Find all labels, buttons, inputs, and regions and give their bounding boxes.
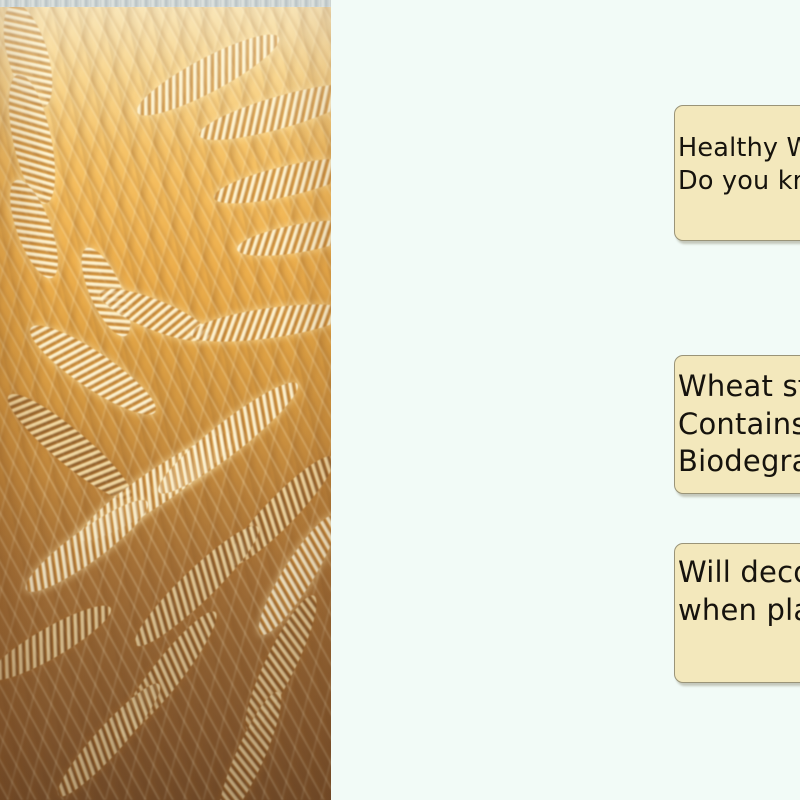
- material-card: Wheat straw material Contains no heavy m…: [674, 355, 800, 494]
- decompose-card-text: Will decompose on its own when placed in…: [678, 554, 800, 629]
- headline-card: Healthy Wheat Straw Ingredients Do you k…: [674, 105, 800, 241]
- wheat-field-photo: [0, 0, 331, 800]
- photo-top-band: [0, 0, 331, 7]
- headline-card-text: Healthy Wheat Straw Ingredients Do you k…: [678, 132, 800, 198]
- decompose-card: Will decompose on its own when placed in…: [674, 543, 800, 683]
- material-card-text: Wheat straw material Contains no heavy m…: [678, 368, 800, 481]
- photo-vignette: [0, 6, 331, 800]
- content-panel: Healthy Wheat Straw Ingredients Do you k…: [331, 0, 800, 800]
